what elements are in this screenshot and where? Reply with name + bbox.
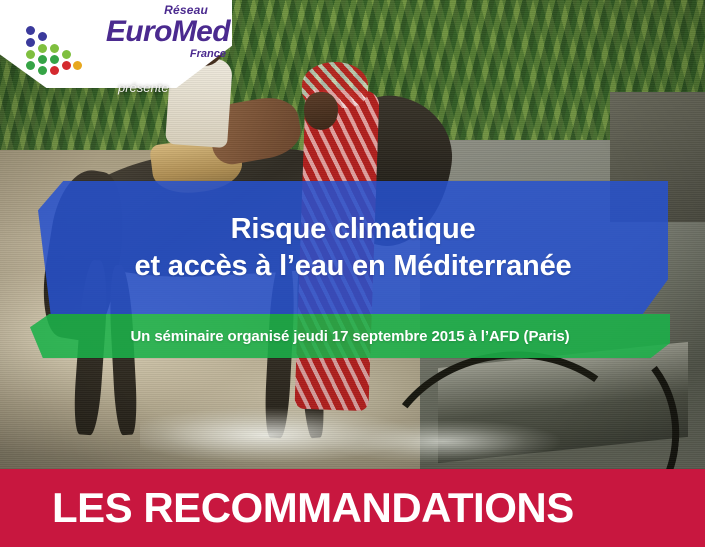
photo-girl-face [304,92,338,130]
logo: Réseau EuroMed France [0,0,232,88]
logo-dot [38,66,47,75]
logo-dot [50,44,59,53]
title-banner: Risque climatique et accès à l’eau en Mé… [38,181,668,314]
footer-title: LES RECOMMANDATIONS [0,487,574,529]
poster: Réseau EuroMed France présente Crédit ph… [0,0,705,547]
logo-dot-matrix-icon [26,26,82,70]
logo-line-euromed: EuroMed [84,17,230,47]
logo-dot [62,61,71,70]
logo-wordmark: Réseau EuroMed France [84,4,230,60]
logo-dot [38,32,47,41]
presente-label: présente [118,80,169,95]
title-line-2: et accès à l’eau en Méditerranée [135,248,572,284]
logo-dot [38,55,47,64]
footer-banner: LES RECOMMANDATIONS [0,469,705,547]
subtitle-banner: Un séminaire organisé jeudi 17 septembre… [30,314,670,358]
subtitle-text: Un séminaire organisé jeudi 17 septembre… [130,328,569,345]
logo-dot [62,50,71,59]
logo-dot [73,61,82,70]
logo-dot [26,61,35,70]
title-line-1: Risque climatique [231,211,476,247]
logo-dot [26,26,35,35]
logo-dot [50,66,59,75]
logo-line-france: France [84,49,230,60]
logo-dot [50,55,59,64]
logo-dot [38,44,47,53]
logo-dot [26,50,35,59]
logo-dot [26,38,35,47]
